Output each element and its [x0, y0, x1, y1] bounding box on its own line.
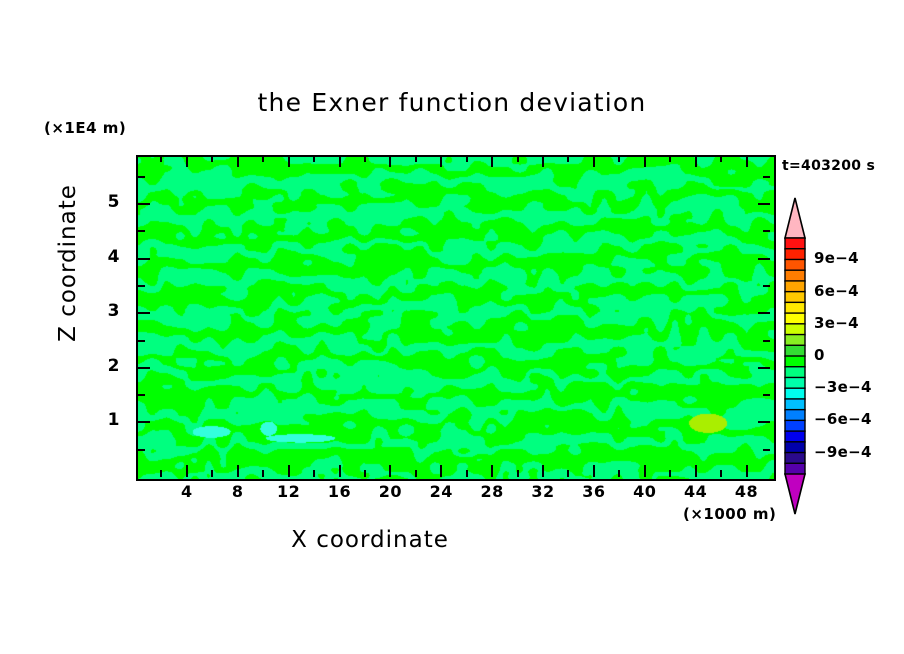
colorbar-tick-label: 0 — [814, 346, 825, 364]
x-tick-label: 20 — [370, 482, 410, 501]
x-tick-top — [542, 155, 544, 167]
y-tick-right — [763, 394, 770, 396]
x-tick-bottom — [644, 465, 646, 477]
x-tick-top — [491, 155, 493, 167]
x-tick-bottom — [339, 465, 341, 477]
x-tick-label: 16 — [320, 482, 360, 501]
y-tick-left — [138, 340, 145, 342]
x-tick-top — [262, 155, 264, 162]
page-title: the Exner function deviation — [0, 88, 904, 117]
contour-field — [138, 157, 774, 479]
y-tick-right — [763, 230, 770, 232]
y-axis-unit-label: (×1E4 m) — [44, 119, 126, 137]
y-tick-label: 4 — [86, 247, 120, 267]
y-tick-label: 1 — [86, 410, 120, 430]
y-tick-label: 3 — [86, 301, 120, 321]
x-tick-top — [211, 155, 213, 162]
y-tick-left — [138, 394, 145, 396]
x-tick-bottom — [466, 470, 468, 477]
x-tick-label: 4 — [167, 482, 207, 501]
x-tick-top — [364, 155, 366, 162]
x-tick-bottom — [720, 470, 722, 477]
x-tick-top — [313, 155, 315, 162]
colorbar-tick-label: 6e−4 — [814, 282, 859, 300]
chart-root: the Exner function deviation (×1E4 m) (×… — [0, 0, 904, 654]
x-tick-bottom — [593, 465, 595, 477]
x-tick-bottom — [695, 465, 697, 477]
y-tick-left — [138, 421, 150, 423]
time-annotation: t=403200 s — [782, 158, 875, 174]
x-tick-label: 32 — [523, 482, 563, 501]
y-tick-right — [758, 421, 770, 423]
y-tick-right — [758, 203, 770, 205]
y-tick-left — [138, 312, 150, 314]
plot-area — [136, 155, 776, 481]
x-tick-bottom — [491, 465, 493, 477]
y-tick-right — [763, 285, 770, 287]
y-tick-label: 2 — [86, 356, 120, 376]
y-tick-right — [758, 312, 770, 314]
x-tick-top — [440, 155, 442, 167]
y-tick-left — [138, 176, 145, 178]
x-tick-bottom — [237, 465, 239, 477]
y-tick-left — [138, 258, 150, 260]
x-tick-label: 8 — [218, 482, 258, 501]
x-tick-top — [567, 155, 569, 162]
y-tick-right — [763, 340, 770, 342]
colorbar-swatches — [781, 196, 809, 516]
y-tick-left — [138, 230, 145, 232]
y-tick-left — [138, 367, 150, 369]
x-tick-top — [644, 155, 646, 167]
x-tick-bottom — [288, 465, 290, 477]
x-tick-bottom — [440, 465, 442, 477]
x-tick-bottom — [669, 470, 671, 477]
x-tick-bottom — [262, 470, 264, 477]
y-tick-right — [763, 449, 770, 451]
x-tick-top — [288, 155, 290, 167]
x-tick-label: 24 — [421, 482, 461, 501]
y-tick-right — [763, 176, 770, 178]
y-tick-left — [138, 449, 145, 451]
x-tick-top — [339, 155, 341, 167]
x-tick-label: 28 — [472, 482, 512, 501]
x-tick-bottom — [364, 470, 366, 477]
x-tick-bottom — [618, 470, 620, 477]
x-tick-top — [517, 155, 519, 162]
x-tick-bottom — [211, 470, 213, 477]
x-tick-bottom — [567, 470, 569, 477]
x-tick-top — [746, 155, 748, 167]
y-tick-left — [138, 203, 150, 205]
colorbar-tick-label: 3e−4 — [814, 314, 859, 332]
x-tick-bottom — [186, 465, 188, 477]
x-axis-title: X coordinate — [0, 527, 904, 553]
x-tick-bottom — [160, 470, 162, 477]
x-tick-bottom — [415, 470, 417, 477]
y-tick-right — [758, 367, 770, 369]
y-tick-left — [138, 285, 145, 287]
x-axis-unit-label: (×1000 m) — [683, 505, 776, 523]
x-tick-label: 36 — [574, 482, 614, 501]
x-tick-top — [593, 155, 595, 167]
x-tick-top — [160, 155, 162, 162]
x-tick-top — [720, 155, 722, 162]
x-tick-label: 40 — [625, 482, 665, 501]
colorbar-tick-label: −9e−4 — [814, 443, 872, 461]
x-tick-top — [618, 155, 620, 162]
x-tick-top — [389, 155, 391, 167]
x-tick-top — [669, 155, 671, 162]
x-tick-bottom — [389, 465, 391, 477]
x-tick-top — [186, 155, 188, 167]
x-tick-bottom — [746, 465, 748, 477]
y-tick-right — [758, 258, 770, 260]
x-tick-top — [695, 155, 697, 167]
x-tick-top — [415, 155, 417, 162]
y-tick-label: 5 — [86, 192, 120, 212]
x-tick-label: 44 — [676, 482, 716, 501]
x-tick-top — [466, 155, 468, 162]
x-tick-bottom — [517, 470, 519, 477]
x-tick-bottom — [542, 465, 544, 477]
x-tick-bottom — [313, 470, 315, 477]
y-axis-title: Z coordinate — [55, 163, 81, 363]
colorbar-tick-label: 9e−4 — [814, 249, 859, 267]
x-tick-label: 12 — [269, 482, 309, 501]
colorbar — [781, 196, 809, 516]
colorbar-tick-label: −6e−4 — [814, 410, 872, 428]
x-tick-top — [237, 155, 239, 167]
colorbar-tick-label: −3e−4 — [814, 378, 872, 396]
x-axis-title-text: X coordinate — [291, 527, 449, 553]
x-tick-label: 48 — [727, 482, 767, 501]
